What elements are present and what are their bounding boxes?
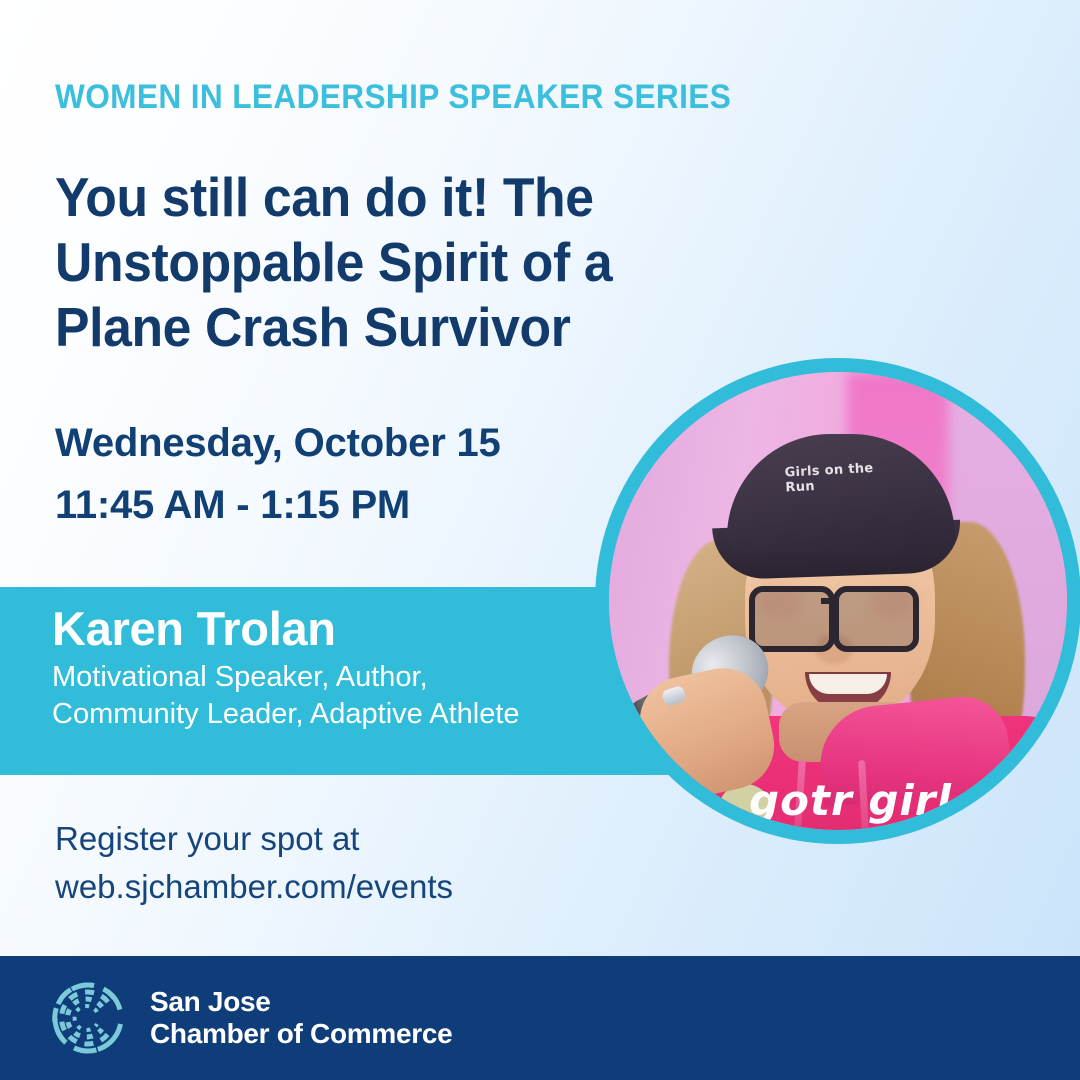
cap-logo-text: Girls on the Run [784, 456, 882, 501]
headline-line-1: You still can do it! The [55, 165, 694, 230]
eyeglass-bridge [821, 598, 839, 604]
speaker-photo-ring: Girls on the Run gotr girl [595, 358, 1080, 844]
event-datetime: Wednesday, October 15 11:45 AM - 1:15 PM [55, 412, 615, 536]
event-date: Wednesday, October 15 [55, 412, 615, 474]
org-name-line-1: San Jose [150, 986, 452, 1018]
page-title: You still can do it! The Unstoppable Spi… [55, 165, 694, 360]
eyeglass-lens-left [749, 586, 835, 652]
chamber-c-logo-icon [48, 978, 128, 1058]
speaker-photo: Girls on the Run gotr girl [609, 372, 1067, 830]
speaker-series-eyebrow: WOMEN IN LEADERSHIP SPEAKER SERIES [55, 78, 731, 117]
teeth [809, 674, 887, 694]
event-flyer: WOMEN IN LEADERSHIP SPEAKER SERIES You s… [0, 0, 1080, 1080]
chamber-wordmark: San Jose Chamber of Commerce [150, 986, 452, 1050]
speaker-info: Karen Trolan Motivational Speaker, Autho… [52, 604, 612, 733]
headline-line-3: Plane Crash Survivor [55, 295, 694, 360]
registration-cta: Register your spot at web.sjchamber.com/… [55, 815, 615, 911]
speaker-role-line-1: Motivational Speaker, Author, [52, 659, 612, 696]
event-time: 11:45 AM - 1:15 PM [55, 474, 615, 536]
headline-line-2: Unstoppable Spirit of a [55, 230, 694, 295]
register-url[interactable]: web.sjchamber.com/events [55, 863, 615, 911]
hoodie-text: gotr girl [749, 776, 1029, 825]
footer-bar: San Jose Chamber of Commerce [0, 956, 1080, 1080]
eyeglass-lens-right [833, 586, 919, 652]
register-prompt: Register your spot at [55, 815, 615, 863]
speaker-name: Karen Trolan [52, 604, 612, 655]
org-name-line-2: Chamber of Commerce [150, 1018, 452, 1050]
speaker-role-line-2: Community Leader, Adaptive Athlete [52, 696, 612, 733]
